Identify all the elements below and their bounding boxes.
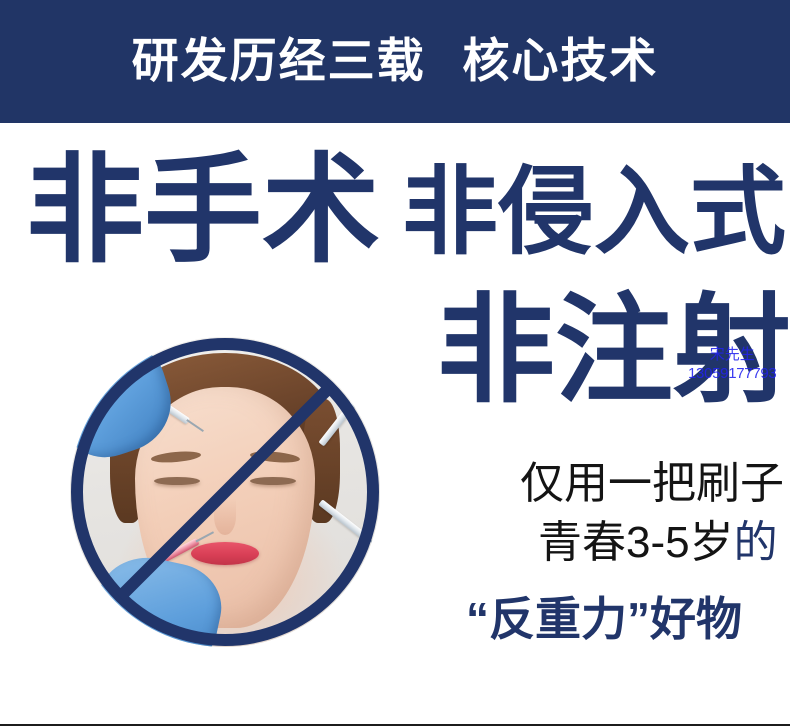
lips [191,542,259,565]
headline-non-invasive: 非侵入式 [402,165,786,261]
header-banner: 研发历经三载 核心技术 [0,0,790,123]
subcopy-line-two-main: 青春3-5岁 [538,518,734,567]
header-banner-text: 研发历经三载 核心技术 [132,38,659,85]
prohibited-injection-figure [70,337,380,647]
subcopy-line-two: 青春3-5岁的 [538,521,778,565]
eye-left [154,477,201,485]
nose [214,498,236,535]
subcopy-line-one: 仅用一把刷子 [520,462,784,506]
circular-photo [70,337,380,647]
headline-non-surgical: 非手术 [26,152,380,270]
subcopy-line-three: “反重力”好物 [466,596,742,642]
headline-non-injection: 非注射 [437,292,790,410]
eye-right [250,477,297,485]
promo-poster: 研发历经三载 核心技术 非手术 非侵入式 非注射 宋先生 13059177793 [0,0,790,726]
subcopy-line-two-accent: 的 [734,518,778,567]
clinic-scene [70,337,380,647]
